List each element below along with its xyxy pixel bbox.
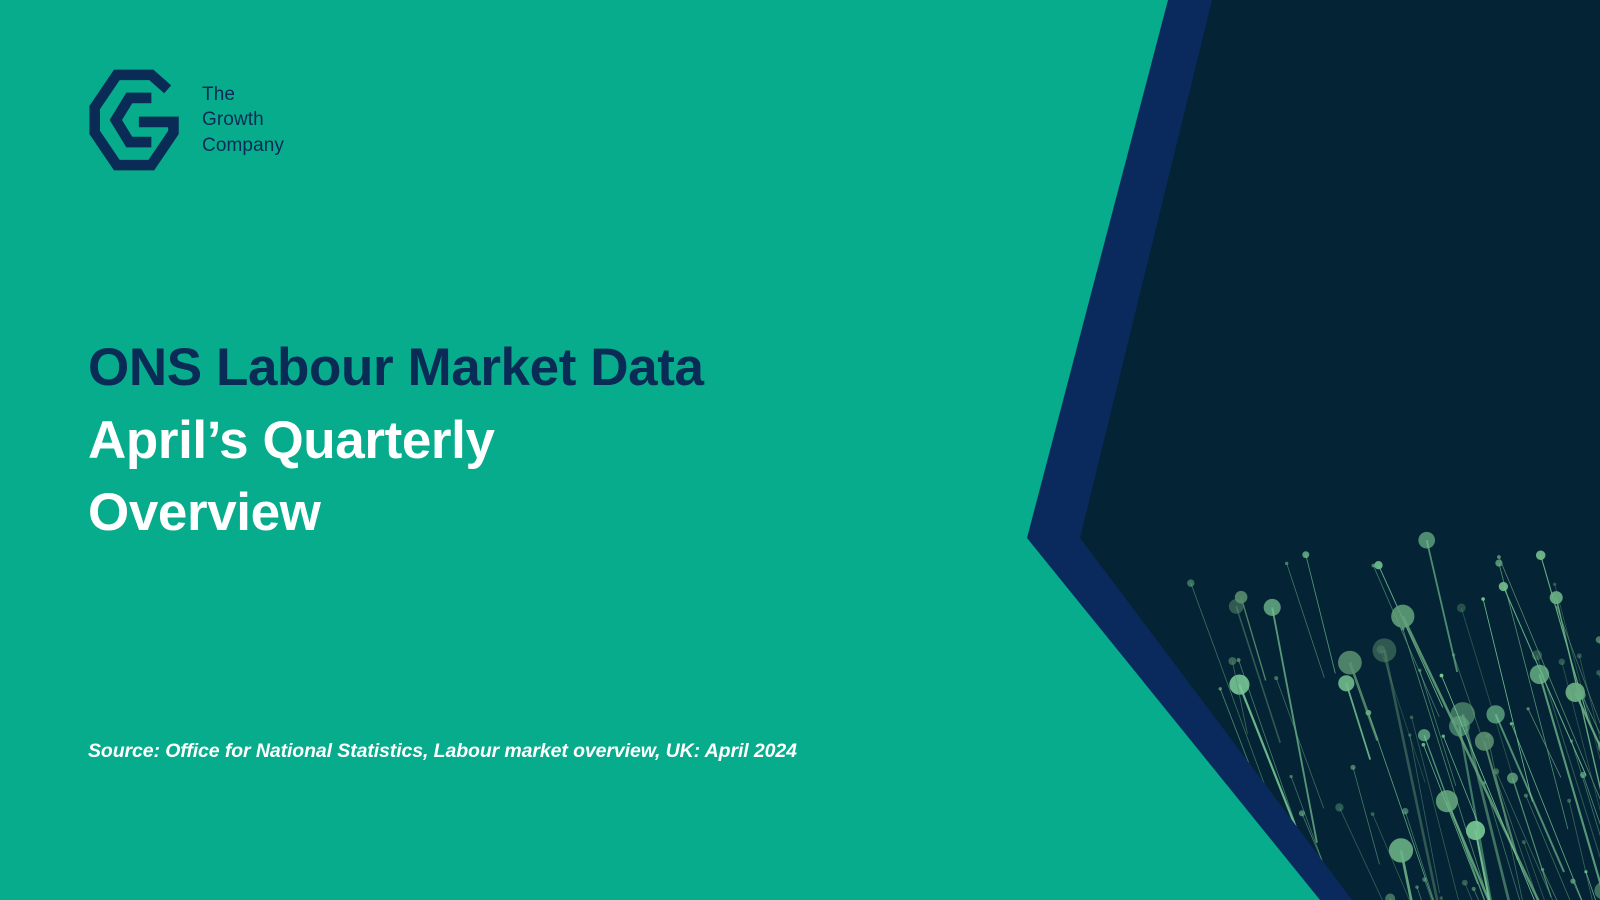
source-attribution: Source: Office for National Statistics, …: [88, 737, 828, 765]
page-title: ONS Labour Market Data April’s Quarterly…: [88, 332, 948, 550]
slide-root: The Growth Company ONS Labour Market Dat…: [0, 0, 1600, 900]
source-line-2: April 2024: [705, 740, 797, 762]
dark-panel: [1080, 0, 1600, 900]
logo-wordmark: The Growth Company: [202, 82, 284, 158]
title-line-3: Overview: [88, 477, 948, 550]
navy-chevron-band: [1027, 0, 1600, 900]
hexagonal-g-mark: [88, 68, 184, 172]
title-line-1: ONS Labour Market Data: [88, 332, 948, 405]
brand-logo: The Growth Company: [88, 68, 284, 172]
source-line-1: Source: Office for National Statistics, …: [88, 740, 700, 762]
title-line-2: April’s Quarterly: [88, 405, 948, 478]
